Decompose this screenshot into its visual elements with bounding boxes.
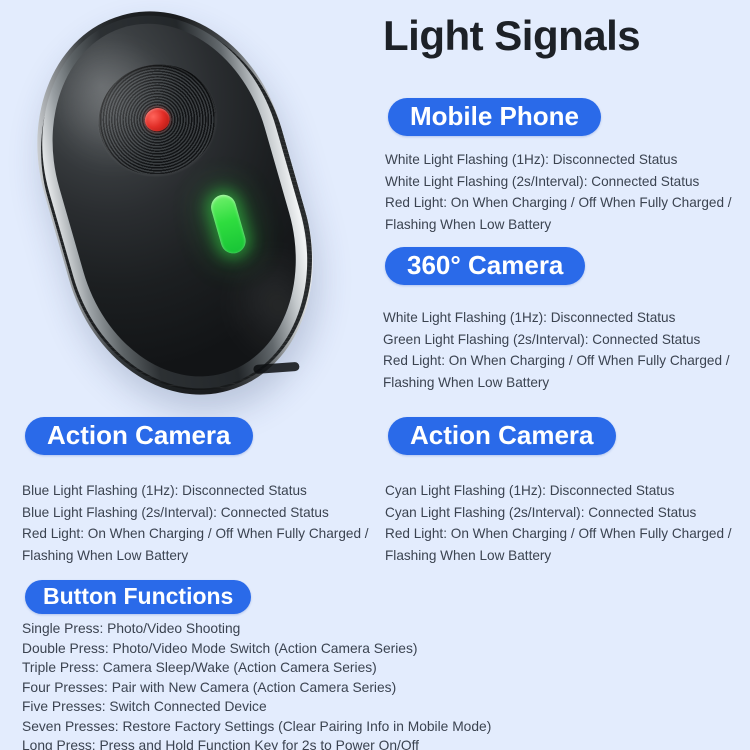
page-title: Light Signals [383, 12, 743, 60]
section-body-360-camera: White Light Flashing (1Hz): Disconnected… [383, 307, 730, 393]
list-item: Triple Press: Camera Sleep/Wake (Action … [22, 658, 491, 678]
list-item: Four Presses: Pair with New Camera (Acti… [22, 678, 491, 698]
list-item: Cyan Light Flashing (1Hz): Disconnected … [385, 480, 732, 502]
list-item: White Light Flashing (2s/Interval): Conn… [385, 171, 732, 193]
list-item: Flashing When Low Battery [385, 214, 732, 236]
list-item: Blue Light Flashing (1Hz): Disconnected … [22, 480, 369, 502]
list-item: Red Light: On When Charging / Off When F… [385, 523, 732, 545]
speaker-grille-icon [85, 51, 229, 189]
section-header-mobile-phone: Mobile Phone [388, 98, 601, 136]
list-item: Long Press: Press and Hold Function Key … [22, 736, 491, 750]
section-header-action-camera-blue: Action Camera [25, 417, 253, 455]
charging-port-notch [253, 362, 300, 374]
list-item: Blue Light Flashing (2s/Interval): Conne… [22, 502, 369, 524]
section-body-action-camera-blue: Blue Light Flashing (1Hz): Disconnected … [22, 480, 369, 566]
badge-360-camera: 360° Camera [385, 247, 585, 285]
list-item: Double Press: Photo/Video Mode Switch (A… [22, 639, 491, 659]
red-indicator-dot [142, 105, 172, 134]
list-item: Green Light Flashing (2s/Interval): Conn… [383, 329, 730, 351]
green-led-indicator [208, 192, 249, 257]
badge-action-camera-blue: Action Camera [25, 417, 253, 455]
list-item: Flashing When Low Battery [383, 372, 730, 394]
list-item: Red Light: On When Charging / Off When F… [385, 192, 732, 214]
list-item: Cyan Light Flashing (2s/Interval): Conne… [385, 502, 732, 524]
remote-device [3, 0, 347, 424]
list-item: Five Presses: Switch Connected Device [22, 697, 491, 717]
list-item: Flashing When Low Battery [22, 545, 369, 567]
section-body-action-camera-cyan: Cyan Light Flashing (1Hz): Disconnected … [385, 480, 732, 566]
section-header-360-camera: 360° Camera [385, 247, 585, 285]
badge-mobile-phone: Mobile Phone [388, 98, 601, 136]
list-item: Seven Presses: Restore Factory Settings … [22, 717, 491, 737]
list-item: Flashing When Low Battery [385, 545, 732, 567]
list-item: White Light Flashing (1Hz): Disconnected… [385, 149, 732, 171]
list-item: Single Press: Photo/Video Shooting [22, 619, 491, 639]
section-header-action-camera-cyan: Action Camera [388, 417, 616, 455]
device-illustration [0, 0, 375, 410]
badge-action-camera-cyan: Action Camera [388, 417, 616, 455]
device-front-face [22, 0, 327, 403]
list-item: Red Light: On When Charging / Off When F… [383, 350, 730, 372]
list-item: White Light Flashing (1Hz): Disconnected… [383, 307, 730, 329]
list-item: Red Light: On When Charging / Off When F… [22, 523, 369, 545]
section-body-mobile-phone: White Light Flashing (1Hz): Disconnected… [385, 149, 732, 235]
section-header-button-functions: Button Functions [25, 580, 251, 614]
badge-button-functions: Button Functions [25, 580, 251, 614]
section-body-button-functions: Single Press: Photo/Video Shooting Doubl… [22, 619, 491, 750]
